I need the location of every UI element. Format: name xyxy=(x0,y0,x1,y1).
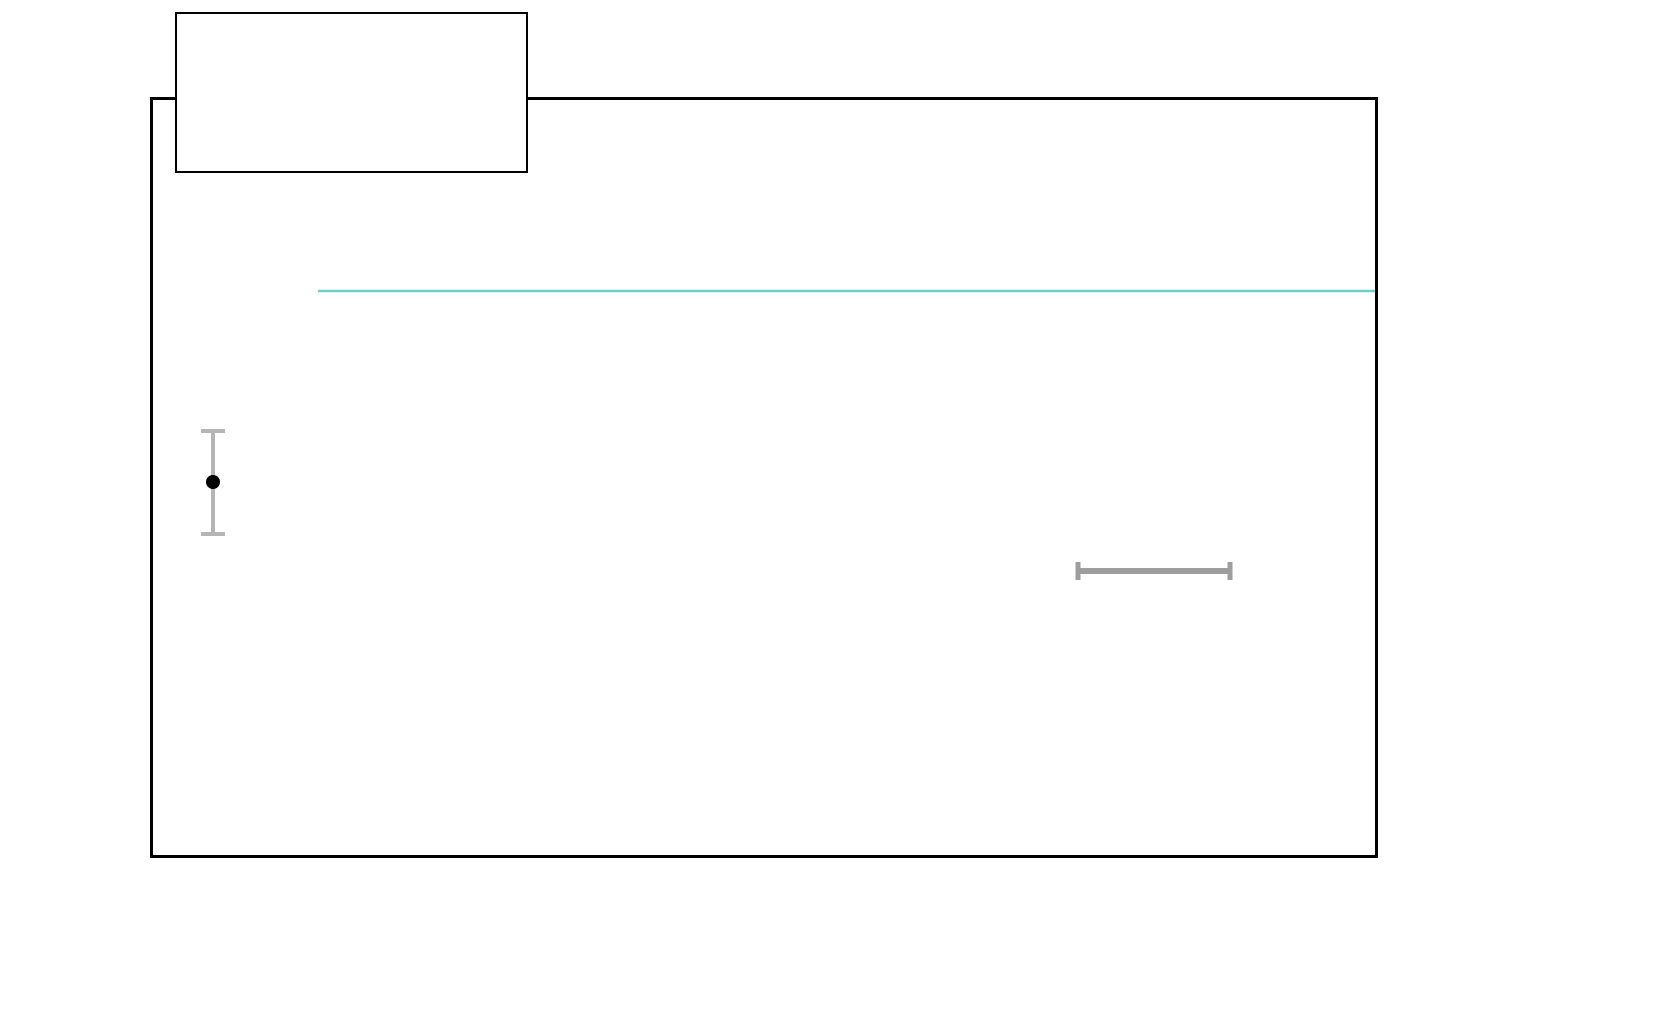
noise-errorbar-icon xyxy=(195,425,255,540)
plot-traces xyxy=(153,100,1375,855)
last10min-extent-bar xyxy=(1078,562,1230,580)
gravimeter-chart xyxy=(0,0,1676,1020)
typical-noise-level-marker xyxy=(195,425,255,540)
legend[interactable] xyxy=(175,12,528,173)
plot-area xyxy=(150,97,1378,858)
